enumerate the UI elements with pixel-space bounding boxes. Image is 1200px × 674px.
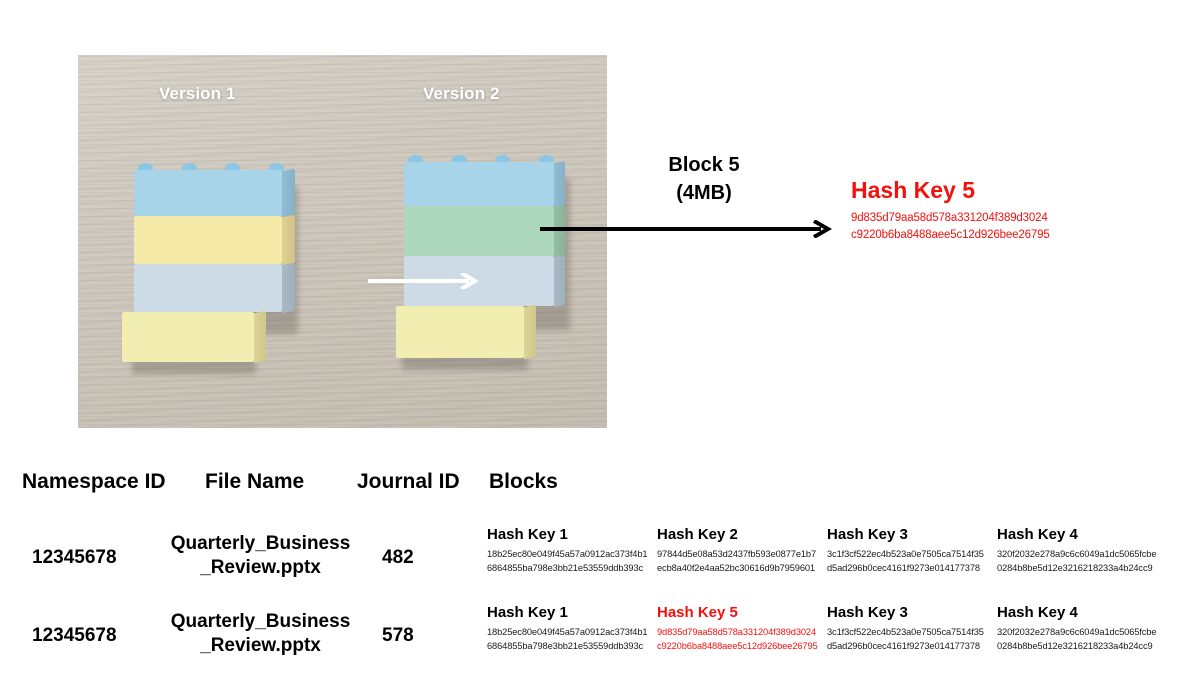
block-hash-line2: d5ad296b0cec4161f9273e014177378 xyxy=(827,562,997,575)
column-header-file-name: File Name xyxy=(205,470,304,494)
block-title: Hash Key 5 xyxy=(657,604,827,621)
block-hash-line2: 0284b8be5d12e3216218233a4b24cc9 xyxy=(997,640,1167,653)
lego-stack-version-1 xyxy=(134,170,294,370)
lego-brick-pale-yellow xyxy=(396,306,524,358)
file-name-line2: _Review.pptx xyxy=(168,556,353,580)
block-hash-line1: 18b25ec80e049f45a57a0912ac373f4b1 xyxy=(487,626,657,639)
block-hash-line1: 320f2032e278a9c6c6049a1dc5065fcbe xyxy=(997,626,1167,639)
file-name-line1: Quarterly_Business xyxy=(168,610,353,634)
lego-brick-light-blue xyxy=(134,264,282,312)
cell-blocks: Hash Key 1 18b25ec80e049f45a57a0912ac373… xyxy=(487,604,1187,653)
column-header-journal-id: Journal ID xyxy=(357,470,460,494)
version-2-label: Version 2 xyxy=(423,84,500,104)
lego-brick-pale-yellow xyxy=(122,312,254,362)
lego-photo-panel: Version 1 Version 2 xyxy=(78,55,607,428)
metadata-table: Namespace ID File Name Journal ID Blocks… xyxy=(0,462,1200,672)
block-callout-line2: (4MB) xyxy=(624,180,784,208)
cell-blocks: Hash Key 1 18b25ec80e049f45a57a0912ac373… xyxy=(487,526,1187,575)
lego-brick-yellow xyxy=(134,216,282,264)
block-hash-line2: 0284b8be5d12e3216218233a4b24cc9 xyxy=(997,562,1167,575)
hash-key-5-title: Hash Key 5 xyxy=(851,178,1111,203)
block-hash-line2: 6864855ba798e3bb21e53559ddb393c xyxy=(487,640,657,653)
black-hash-arrow-icon xyxy=(540,220,832,238)
block-hash-line1: 97844d5e08a53d2437fb593e0877e1b7 xyxy=(657,548,827,561)
cell-journal-id: 578 xyxy=(382,625,452,647)
block-hash-line1: 320f2032e278a9c6c6049a1dc5065fcbe xyxy=(997,548,1167,561)
block-hash-line2: ecb8a40f2e4aa52bc30616d9b7959601 xyxy=(657,562,827,575)
block-title: Hash Key 4 xyxy=(997,604,1167,621)
block-title: Hash Key 3 xyxy=(827,604,997,621)
block-title: Hash Key 3 xyxy=(827,526,997,543)
version-1-label: Version 1 xyxy=(159,84,236,104)
hash-key-5-callout: Hash Key 5 9d835d79aa58d578a331204f389d3… xyxy=(851,178,1111,243)
lego-brick-blue xyxy=(404,162,554,206)
block-entry: Hash Key 4 320f2032e278a9c6c6049a1dc5065… xyxy=(997,526,1167,575)
column-header-blocks: Blocks xyxy=(489,470,558,494)
column-header-namespace-id: Namespace ID xyxy=(22,470,166,494)
block-callout: Block 5 (4MB) xyxy=(624,152,784,207)
block-hash-line1: 3c1f3cf522ec4b523a0e7505ca7514f35 xyxy=(827,626,997,639)
block-entry: Hash Key 1 18b25ec80e049f45a57a0912ac373… xyxy=(487,526,657,575)
block-entry: Hash Key 1 18b25ec80e049f45a57a0912ac373… xyxy=(487,604,657,653)
cell-file-name: Quarterly_Business _Review.pptx xyxy=(168,532,353,581)
lego-stack-version-2 xyxy=(404,162,564,367)
hash-key-5-value-line1: 9d835d79aa58d578a331204f389d3024 xyxy=(851,210,1111,226)
block-title: Hash Key 1 xyxy=(487,604,657,621)
lego-brick-green xyxy=(404,206,554,256)
block-hash-line1: 18b25ec80e049f45a57a0912ac373f4b1 xyxy=(487,548,657,561)
block-hash-line2: c9220b6ba8488aee5c12d926bee26795 xyxy=(657,640,827,653)
block-entry: Hash Key 4 320f2032e278a9c6c6049a1dc5065… xyxy=(997,604,1167,653)
table-row: 12345678 Quarterly_Business _Review.pptx… xyxy=(0,604,1200,672)
file-name-line2: _Review.pptx xyxy=(168,634,353,658)
cell-namespace-id: 12345678 xyxy=(32,547,182,569)
block-hash-line1: 9d835d79aa58d578a331204f389d3024 xyxy=(657,626,827,639)
block-entry: Hash Key 3 3c1f3cf522ec4b523a0e7505ca751… xyxy=(827,526,997,575)
block-hash-line1: 3c1f3cf522ec4b523a0e7505ca7514f35 xyxy=(827,548,997,561)
block-entry: Hash Key 2 97844d5e08a53d2437fb593e0877e… xyxy=(657,526,827,575)
block-title: Hash Key 4 xyxy=(997,526,1167,543)
block-title: Hash Key 1 xyxy=(487,526,657,543)
block-hash-line2: d5ad296b0cec4161f9273e014177378 xyxy=(827,640,997,653)
cell-namespace-id: 12345678 xyxy=(32,625,182,647)
block-callout-line1: Block 5 xyxy=(624,152,784,180)
block-entry-highlighted: Hash Key 5 9d835d79aa58d578a331204f389d3… xyxy=(657,604,827,653)
hash-key-5-value-line2: c9220b6ba8488aee5c12d926bee26795 xyxy=(851,227,1111,243)
table-header-row: Namespace ID File Name Journal ID Blocks xyxy=(0,462,1200,520)
block-title: Hash Key 2 xyxy=(657,526,827,543)
white-transform-arrow-icon xyxy=(368,273,480,289)
table-row: 12345678 Quarterly_Business _Review.pptx… xyxy=(0,526,1200,594)
block-entry: Hash Key 3 3c1f3cf522ec4b523a0e7505ca751… xyxy=(827,604,997,653)
block-hash-line2: 6864855ba798e3bb21e53559ddb393c xyxy=(487,562,657,575)
file-name-line1: Quarterly_Business xyxy=(168,532,353,556)
lego-brick-blue xyxy=(134,170,282,216)
cell-journal-id: 482 xyxy=(382,547,452,569)
cell-file-name: Quarterly_Business _Review.pptx xyxy=(168,610,353,659)
